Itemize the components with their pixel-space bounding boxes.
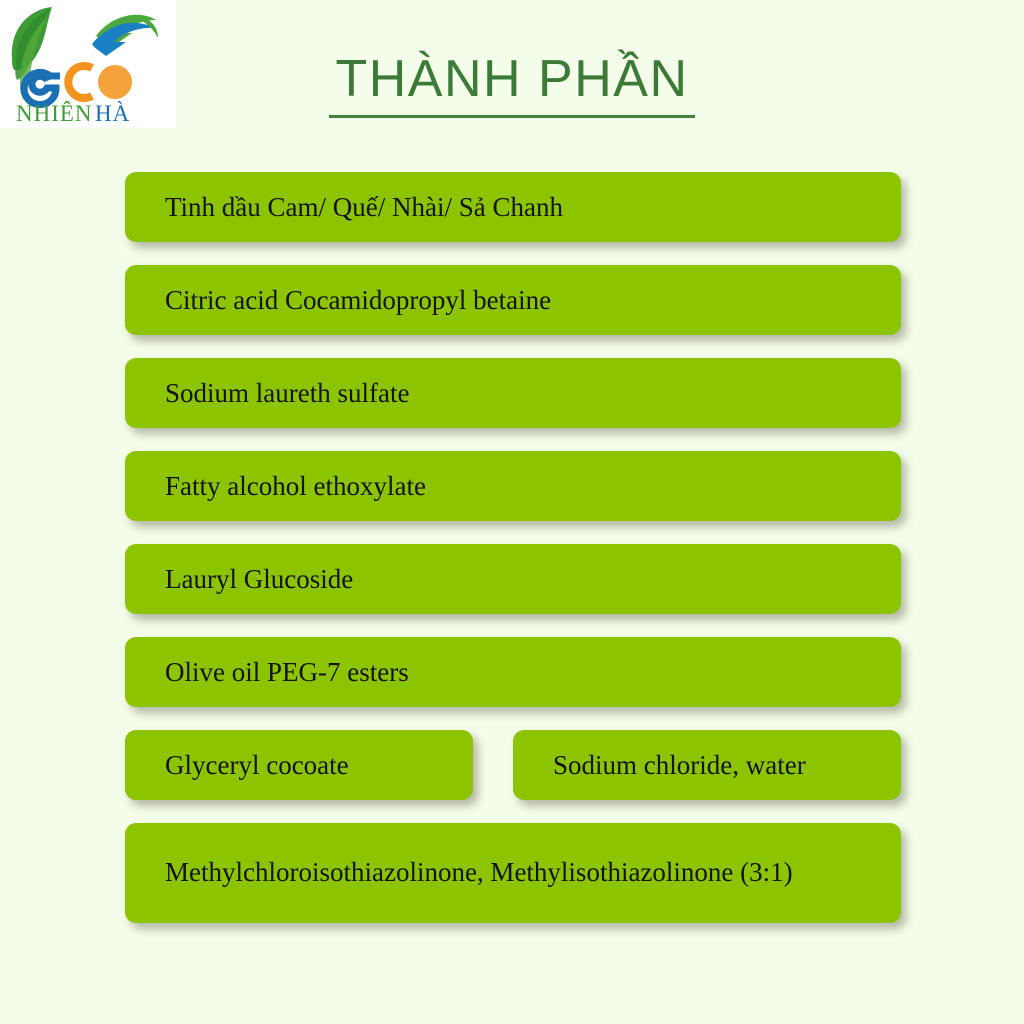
ingredient-pill: Tinh dầu Cam/ Quế/ Nhài/ Sả Chanh: [125, 172, 901, 242]
page-title-container: THÀNH PHẦN: [0, 52, 1024, 118]
ingredient-label: Tinh dầu Cam/ Quế/ Nhài/ Sả Chanh: [165, 191, 563, 223]
ingredient-pill: Citric acid Cocamidopropyl betaine: [125, 265, 901, 335]
ingredient-row-split: Glyceryl cocoate Sodium chloride, water: [125, 730, 901, 800]
ingredient-row: Methylchloroisothiazolinone, Methylisoth…: [125, 823, 901, 923]
ingredient-label: Glyceryl cocoate: [165, 749, 349, 781]
ingredient-row: Tinh dầu Cam/ Quế/ Nhài/ Sả Chanh: [125, 172, 901, 242]
ingredient-pill: Methylchloroisothiazolinone, Methylisoth…: [125, 823, 901, 923]
ingredient-pill: Lauryl Glucoside: [125, 544, 901, 614]
ingredient-pill: Olive oil PEG-7 esters: [125, 637, 901, 707]
ingredient-pill: Glyceryl cocoate: [125, 730, 473, 800]
ingredient-pill: Fatty alcohol ethoxylate: [125, 451, 901, 521]
ingredient-label: Lauryl Glucoside: [165, 563, 353, 595]
ingredient-row: Citric acid Cocamidopropyl betaine: [125, 265, 901, 335]
ingredient-list: Tinh dầu Cam/ Quế/ Nhài/ Sả Chanh Citric…: [125, 172, 901, 946]
ingredient-label: Olive oil PEG-7 esters: [165, 656, 409, 688]
ingredient-row: Lauryl Glucoside: [125, 544, 901, 614]
ingredient-label: Methylchloroisothiazolinone, Methylisoth…: [165, 855, 793, 891]
ingredient-pill: Sodium laureth sulfate: [125, 358, 901, 428]
ingredient-label: Citric acid Cocamidopropyl betaine: [165, 284, 551, 316]
page-title: THÀNH PHẦN: [329, 52, 694, 118]
ingredient-row: Sodium laureth sulfate: [125, 358, 901, 428]
ingredient-row: Olive oil PEG-7 esters: [125, 637, 901, 707]
ingredient-label: Sodium laureth sulfate: [165, 377, 409, 409]
ingredient-label: Fatty alcohol ethoxylate: [165, 470, 426, 502]
ingredient-row: Fatty alcohol ethoxylate: [125, 451, 901, 521]
ingredient-label: Sodium chloride, water: [553, 749, 806, 781]
ingredient-pill: Sodium chloride, water: [513, 730, 901, 800]
